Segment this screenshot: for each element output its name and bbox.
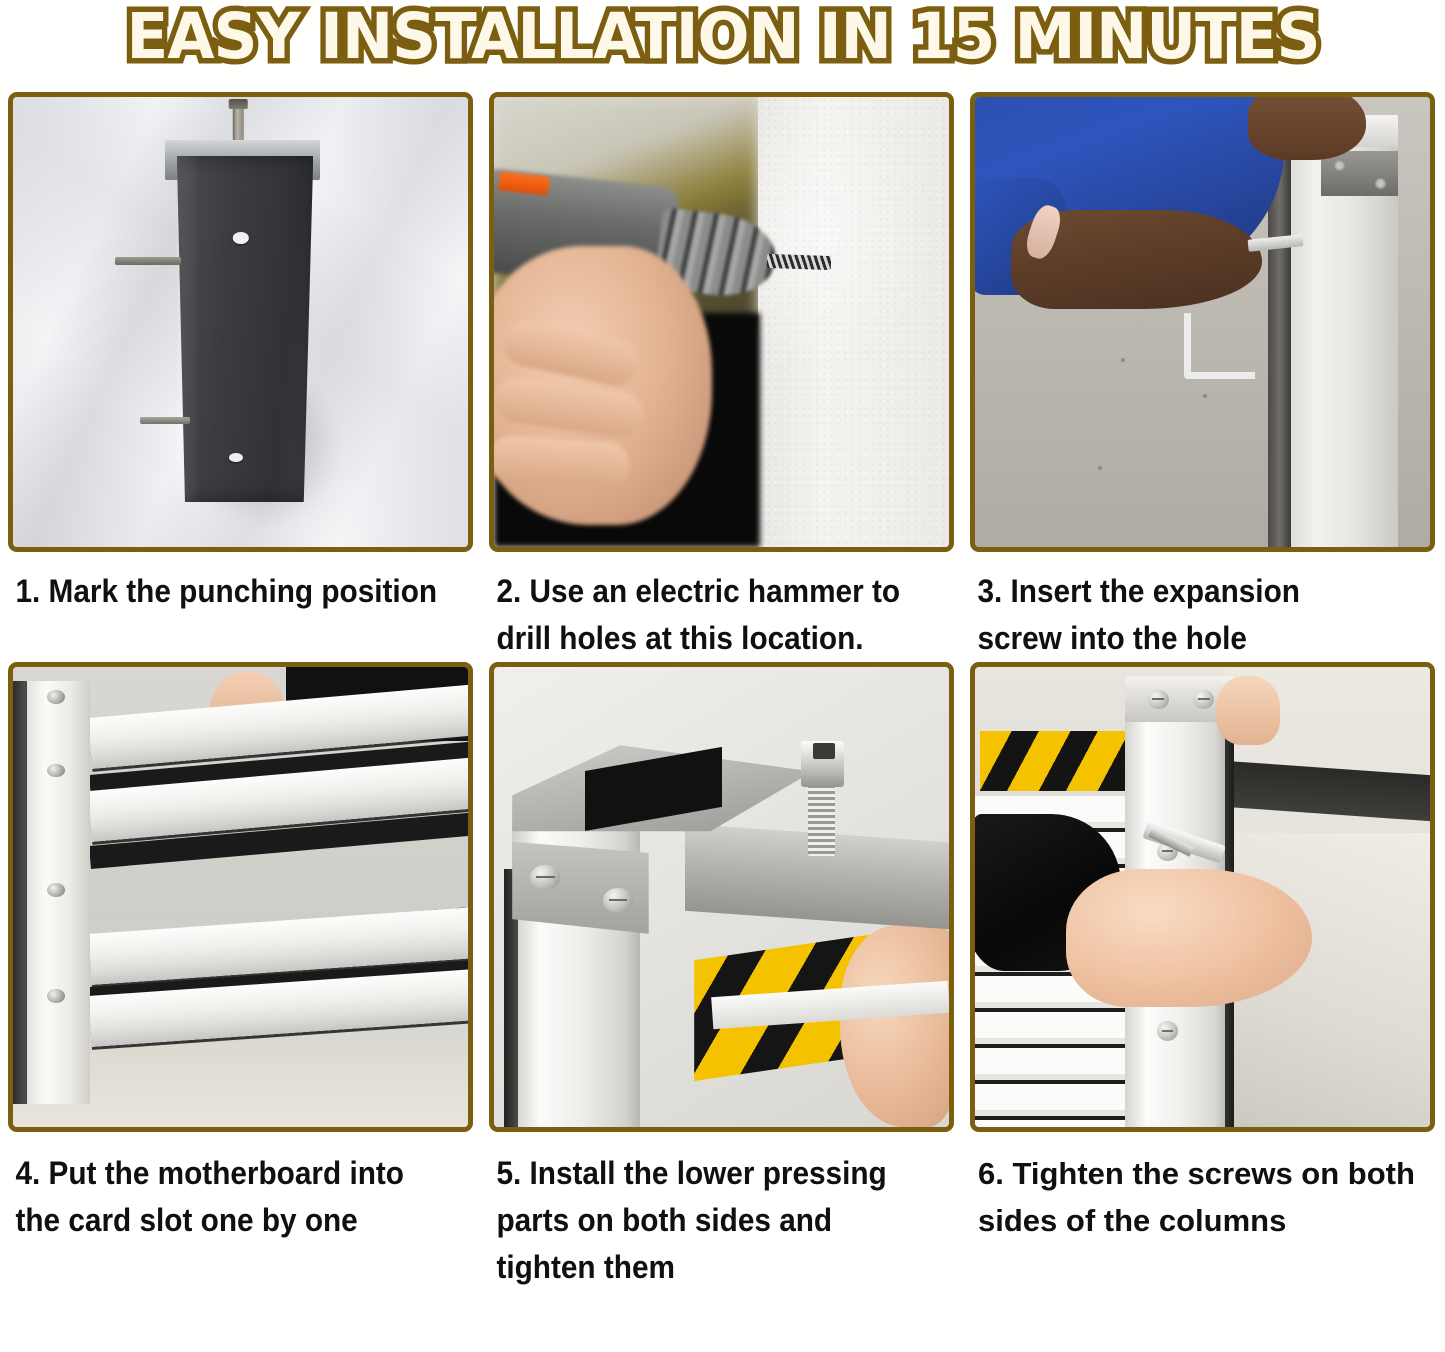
- hazard-stripe-yellow-black: [980, 731, 1130, 791]
- step-card-4: 4. Put the motherboard into the card slo…: [8, 662, 489, 1291]
- step-photo-1: [8, 92, 473, 552]
- photo-2-scene: [494, 97, 949, 547]
- photo-1-scene: [13, 97, 468, 547]
- step-card-5: 5. Install the lower pressing parts on b…: [489, 662, 970, 1291]
- side-screw-lower: [1157, 1021, 1178, 1040]
- hand-upper: [1216, 676, 1280, 745]
- installation-steps-grid: 1. Mark the punching position 2. Use an …: [0, 92, 1445, 1291]
- header-banner: EASY INSTALLATION IN 15 MINUTES: [0, 0, 1445, 92]
- step-photo-2: [489, 92, 954, 552]
- column-screw-1: [47, 690, 65, 704]
- step-caption-3: 3. Insert the expansion screw into the h…: [970, 552, 1417, 662]
- step-photo-3: [970, 92, 1435, 552]
- photo-3-scene: [975, 97, 1430, 547]
- allen-key-icon: [1184, 313, 1255, 379]
- drill-bit-icon: [767, 253, 831, 269]
- side-bolt-lower: [140, 417, 190, 425]
- step-card-1: 1. Mark the punching position: [8, 92, 489, 662]
- mounting-hole-lower: [229, 453, 243, 463]
- photo-6-scene: [975, 667, 1430, 1127]
- bracket-screw-1: [530, 865, 560, 890]
- column-mounting-plate: [1321, 151, 1398, 196]
- step-card-6: 6. Tighten the screws on both sides of t…: [970, 662, 1445, 1291]
- photo-5-scene: [494, 667, 949, 1127]
- bolt-socket-icon: [813, 743, 836, 759]
- hand-tightening-screw: [1066, 869, 1312, 1007]
- step-card-3: 3. Insert the expansion screw into the h…: [970, 92, 1445, 662]
- step-photo-6: [970, 662, 1435, 1132]
- step-caption-4: 4. Put the motherboard into the card slo…: [8, 1132, 440, 1244]
- step-caption-1: 1. Mark the punching position: [8, 552, 440, 615]
- step-card-2: 2. Use an electric hammer to drill holes…: [489, 92, 970, 662]
- top-bolt-icon: [233, 104, 243, 145]
- textured-wall: [758, 97, 949, 547]
- photo-4-scene: [13, 667, 468, 1127]
- bolt-threaded-shaft: [808, 782, 835, 856]
- worker-hand-upper: [1248, 97, 1366, 160]
- mounting-hole-upper: [232, 232, 248, 244]
- column-screw-4: [47, 989, 65, 1003]
- post-highlight: [177, 156, 200, 503]
- floor-mark-1: [1121, 358, 1126, 362]
- floor-mark-2: [1203, 394, 1208, 398]
- step-photo-4: [8, 662, 473, 1132]
- step-caption-6: 6. Tighten the screws on both sides of t…: [970, 1132, 1445, 1244]
- step-caption-5: 5. Install the lower pressing parts on b…: [489, 1132, 921, 1291]
- step-caption-2: 2. Use an electric hammer to drill holes…: [489, 552, 921, 662]
- step-photo-5: [489, 662, 954, 1132]
- side-bolt-upper: [115, 257, 181, 266]
- finger-3: [494, 434, 632, 489]
- page-title: EASY INSTALLATION IN 15 MINUTES: [126, 2, 1319, 72]
- top-screw-1: [1148, 690, 1169, 709]
- bracket-front-face: [512, 842, 649, 934]
- bracket-screw-2: [603, 888, 633, 913]
